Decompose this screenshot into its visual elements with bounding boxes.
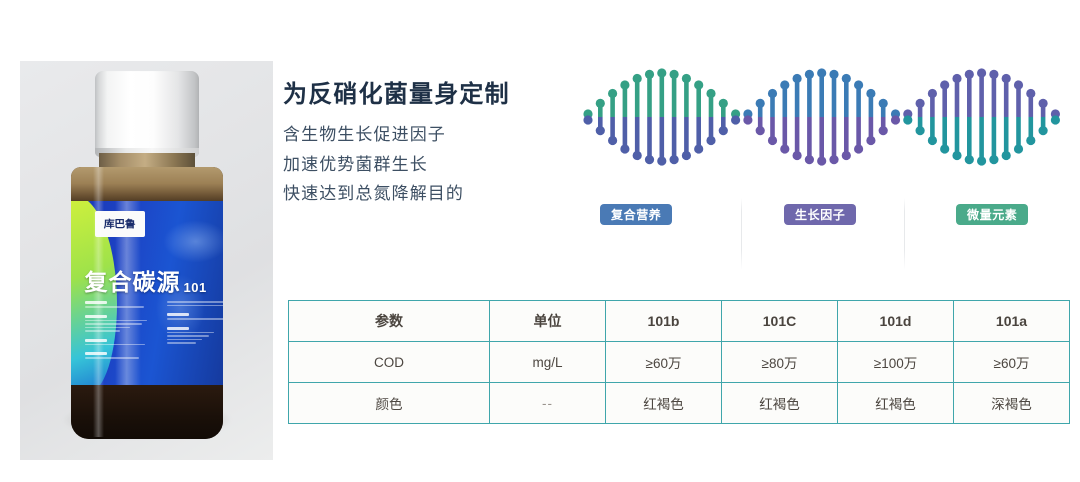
feature-cell-1: 生长因子 bbox=[741, 196, 904, 272]
subtitle-line-3: 快速达到总氮降解目的 bbox=[283, 179, 510, 208]
label-title-number: 101 bbox=[184, 280, 207, 295]
bottle-cap bbox=[95, 71, 199, 157]
feature-badges: 复合营养 生长因子 微量元素 bbox=[578, 196, 1068, 272]
cell-color-101C: 红褐色 bbox=[722, 383, 838, 424]
cell-cod-101a: ≥60万 bbox=[954, 342, 1070, 383]
header-101b: 101b bbox=[606, 301, 722, 342]
cell-color-101d: 红褐色 bbox=[838, 383, 954, 424]
badge-divider-1 bbox=[741, 198, 742, 270]
page-title: 为反硝化菌量身定制 bbox=[283, 82, 510, 108]
product-bottle: 库巴鲁 复合碳源 101 bbox=[63, 71, 231, 443]
cell-color-unit: -- bbox=[490, 383, 606, 424]
header-101d: 101d bbox=[838, 301, 954, 342]
spec-table: 参数 单位 101b 101C 101d 101a COD mg/L ≥60万 … bbox=[288, 300, 1070, 424]
cell-cod-101d: ≥100万 bbox=[838, 342, 954, 383]
header-unit: 单位 bbox=[490, 301, 606, 342]
product-photo: 库巴鲁 复合碳源 101 bbox=[20, 61, 273, 460]
feature-cell-2: 微量元素 bbox=[904, 196, 1067, 272]
subtitle-line-1: 含生物生长促进因子 bbox=[283, 120, 510, 149]
bottle-highlight bbox=[93, 167, 104, 437]
cell-color-101a: 深褐色 bbox=[954, 383, 1070, 424]
badge-divider-2 bbox=[904, 198, 905, 270]
cell-cod-param: COD bbox=[289, 342, 490, 383]
cell-cod-101b: ≥60万 bbox=[606, 342, 722, 383]
dna-helix-icon bbox=[578, 58, 1068, 176]
headline-block: 为反硝化菌量身定制 含生物生长促进因子 加速优势菌群生长 快速达到总氮降解目的 bbox=[283, 82, 510, 208]
label-fine-print bbox=[85, 301, 213, 379]
label-fine-print-right bbox=[167, 301, 223, 346]
brand-name: 库巴鲁 bbox=[104, 217, 136, 232]
header-101C: 101C bbox=[722, 301, 838, 342]
header-101a: 101a bbox=[954, 301, 1070, 342]
table-row: COD mg/L ≥60万 ≥80万 ≥100万 ≥60万 bbox=[289, 342, 1070, 383]
feature-cell-0: 复合营养 bbox=[578, 196, 741, 272]
cell-cod-unit: mg/L bbox=[490, 342, 606, 383]
cell-color-101b: 红褐色 bbox=[606, 383, 722, 424]
badge-growth-factor[interactable]: 生长因子 bbox=[784, 204, 856, 225]
subtitle-line-2: 加速优势菌群生长 bbox=[283, 150, 510, 179]
cell-color-param: 颜色 bbox=[289, 383, 490, 424]
cell-cod-101C: ≥80万 bbox=[722, 342, 838, 383]
table-row: 颜色 -- 红褐色 红褐色 红褐色 深褐色 bbox=[289, 383, 1070, 424]
header-param: 参数 bbox=[289, 301, 490, 342]
badge-trace-elements[interactable]: 微量元素 bbox=[956, 204, 1028, 225]
badge-compound-nutrition[interactable]: 复合营养 bbox=[600, 204, 672, 225]
table-header-row: 参数 单位 101b 101C 101d 101a bbox=[289, 301, 1070, 342]
